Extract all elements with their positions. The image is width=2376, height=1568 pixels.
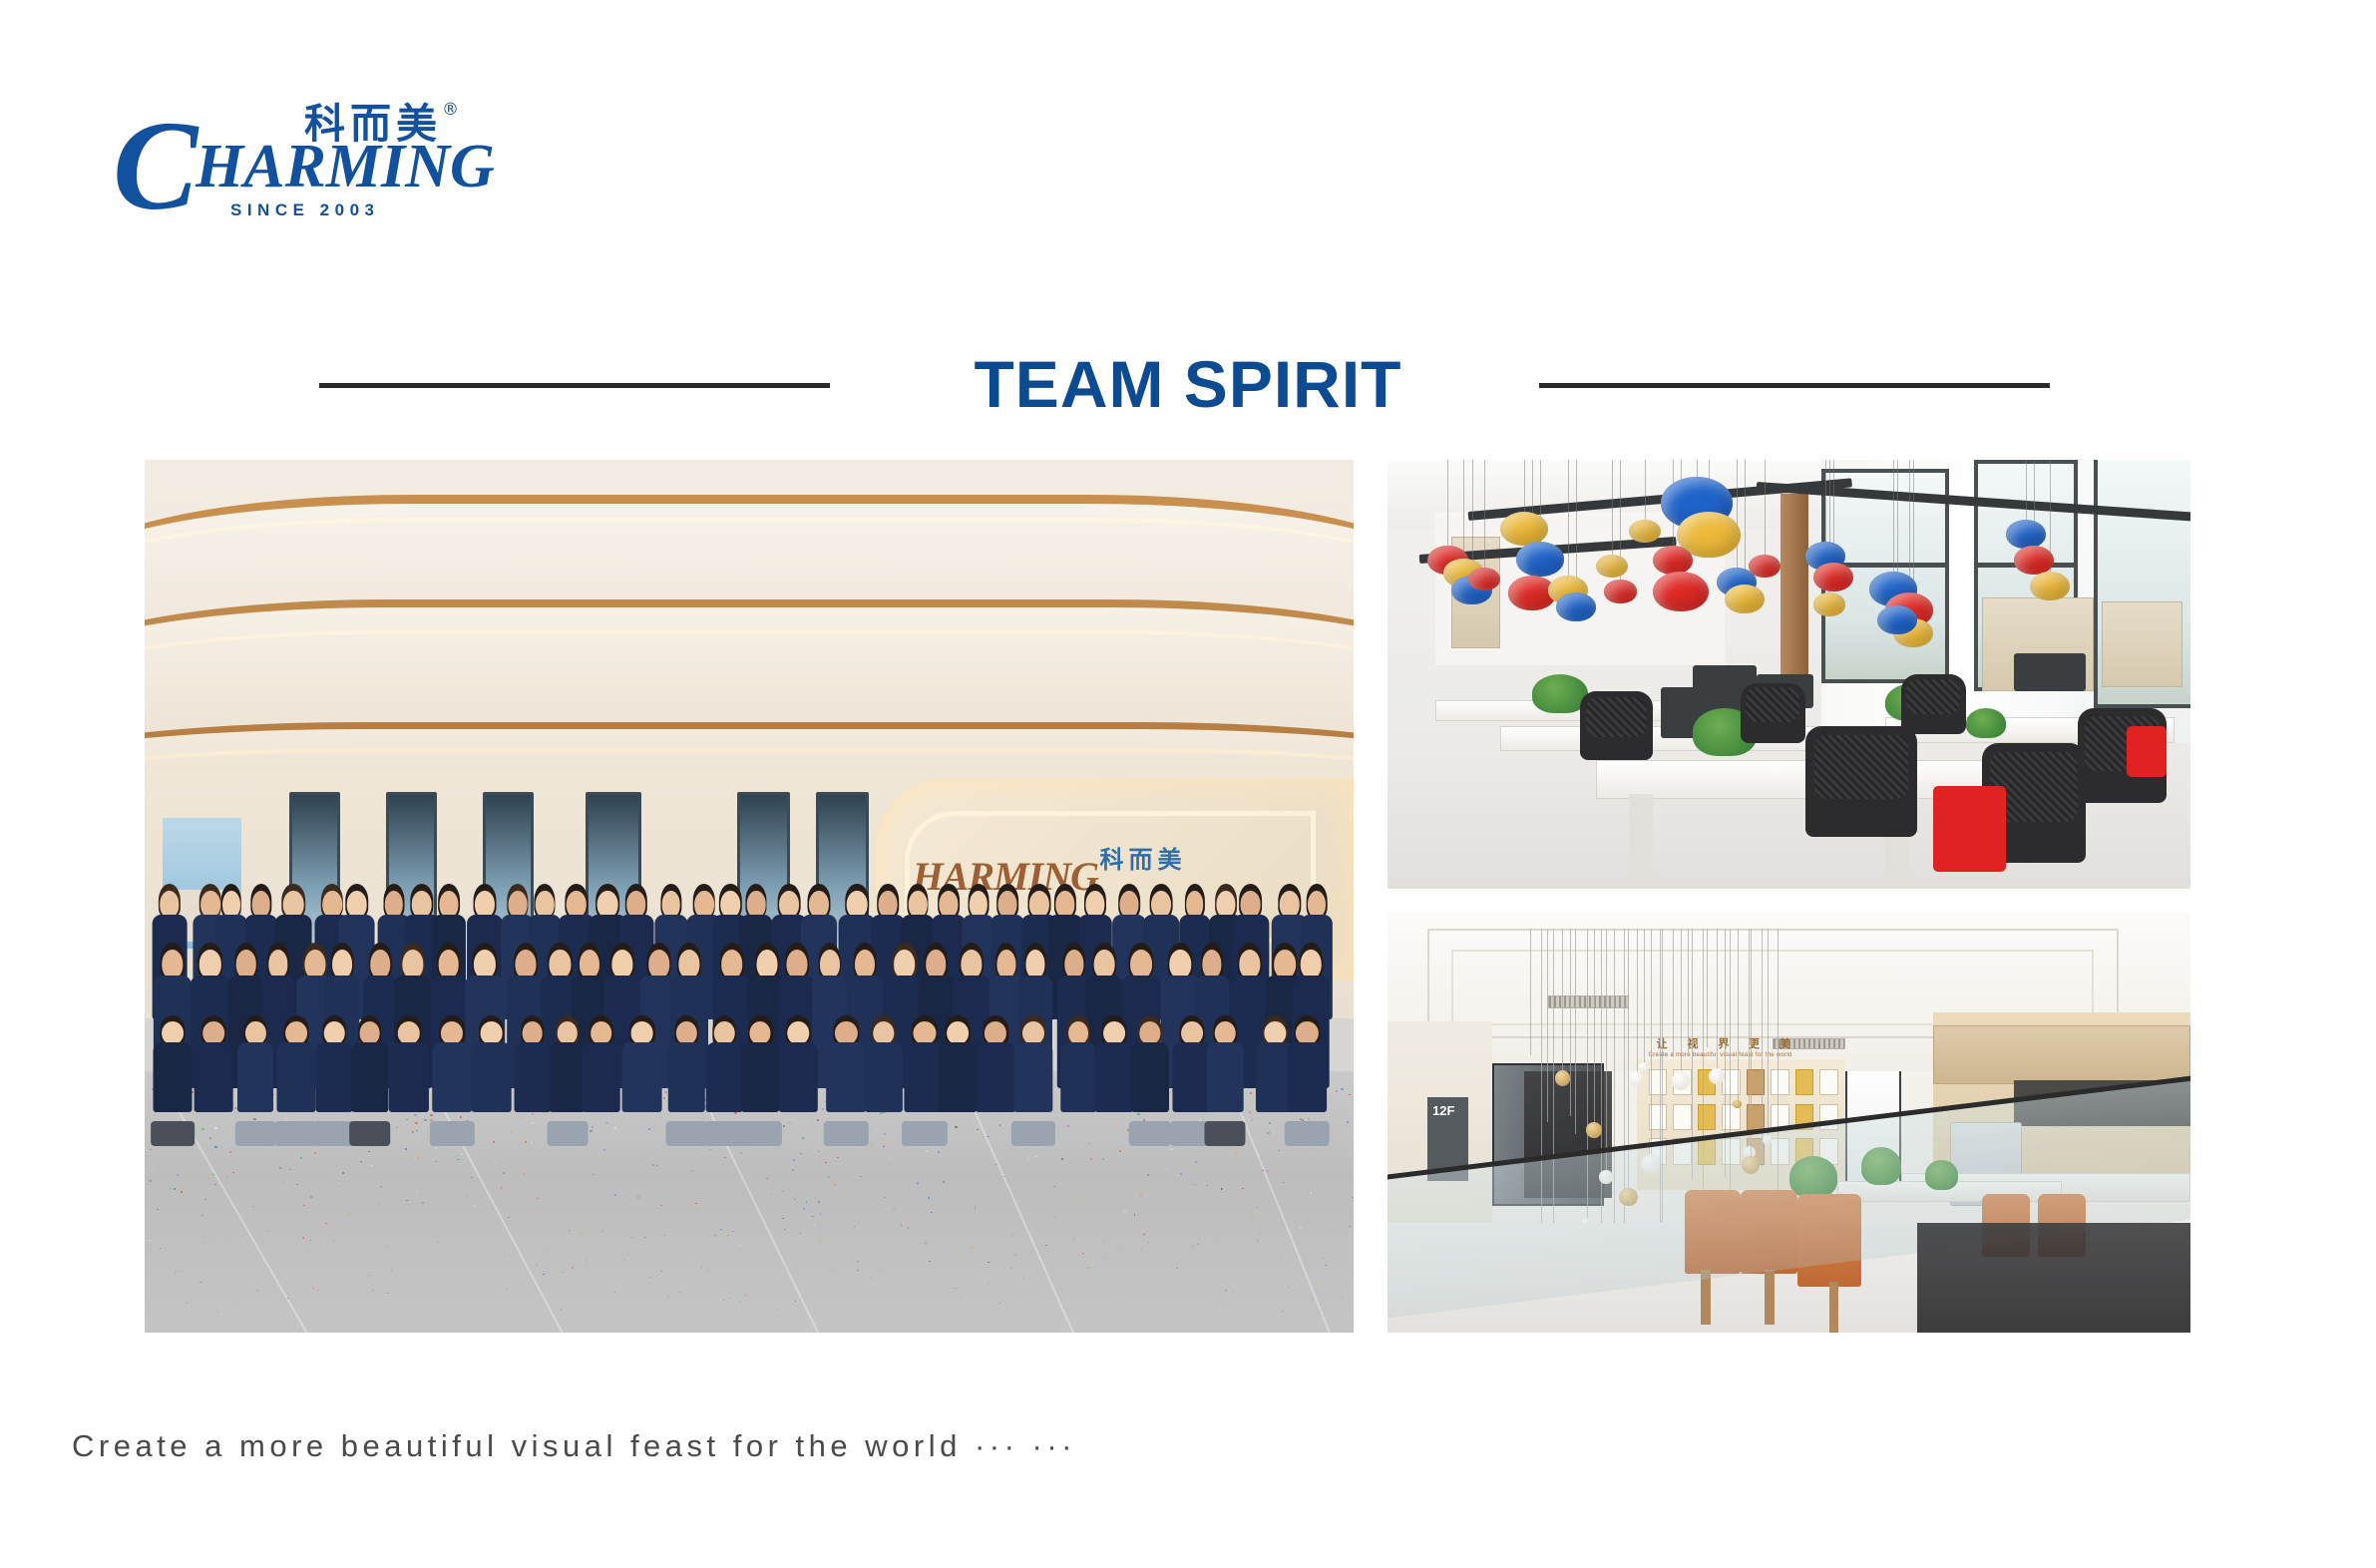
logo-chinese-name: 科而美 bbox=[304, 104, 442, 145]
employee-head bbox=[1064, 950, 1083, 979]
employee-trousers bbox=[1011, 1121, 1055, 1146]
employee-polo-shirt bbox=[316, 1042, 353, 1112]
confetti bbox=[784, 1229, 786, 1230]
certificate-frame bbox=[1795, 1069, 1814, 1095]
confetti bbox=[1134, 1214, 1136, 1215]
confetti bbox=[825, 1162, 827, 1164]
confetti bbox=[920, 1210, 922, 1211]
confetti bbox=[1031, 1301, 1032, 1302]
desk-plant-4 bbox=[1966, 708, 2006, 738]
confetti bbox=[308, 1251, 309, 1252]
employee-head bbox=[970, 891, 988, 918]
office-scene bbox=[1387, 460, 2190, 889]
confetti bbox=[652, 1164, 654, 1166]
employee-head bbox=[1068, 1021, 1088, 1045]
confetti bbox=[1218, 1238, 1219, 1239]
confetti bbox=[1300, 1227, 1302, 1228]
employee-polo-shirt bbox=[514, 1042, 551, 1112]
confetti bbox=[614, 1292, 615, 1293]
confetti bbox=[1325, 1265, 1326, 1266]
employee-head bbox=[346, 891, 367, 918]
confetti bbox=[871, 1144, 873, 1146]
employee-polo-shirt bbox=[389, 1042, 429, 1112]
employee-head bbox=[591, 1021, 612, 1045]
employee-head bbox=[1279, 891, 1299, 918]
confetti bbox=[378, 1203, 380, 1204]
confetti bbox=[174, 1188, 176, 1189]
confetti bbox=[795, 1301, 796, 1302]
confetti bbox=[883, 1146, 885, 1148]
red-balloon bbox=[1749, 555, 1781, 578]
confetti bbox=[727, 1235, 728, 1236]
confetti bbox=[832, 1181, 834, 1182]
lounge-scene: 12F 让 视 界 更 美 Create a more beautiful vi… bbox=[1387, 912, 2190, 1333]
certificate-frame bbox=[1771, 1069, 1789, 1095]
employee-head bbox=[1094, 950, 1115, 979]
confetti bbox=[1014, 1255, 1015, 1256]
confetti bbox=[187, 1303, 188, 1304]
employee-head bbox=[162, 1021, 184, 1045]
confetti bbox=[1187, 1290, 1188, 1291]
confetti bbox=[1193, 1246, 1194, 1247]
confetti bbox=[739, 1245, 740, 1246]
employee-head bbox=[522, 1021, 543, 1045]
employee-polo-shirt bbox=[1013, 1042, 1052, 1112]
employee-head bbox=[441, 1021, 463, 1045]
confetti bbox=[1341, 1088, 1344, 1090]
pendant-wire bbox=[1688, 929, 1689, 1054]
confetti bbox=[860, 1176, 862, 1177]
confetti bbox=[1257, 1235, 1258, 1236]
confetti bbox=[252, 1206, 254, 1207]
employee bbox=[1287, 1015, 1327, 1128]
confetti bbox=[279, 1167, 281, 1169]
confetti bbox=[1221, 1188, 1223, 1189]
confetti bbox=[371, 1165, 373, 1167]
confetti bbox=[1010, 1268, 1011, 1269]
employee-head bbox=[940, 891, 959, 918]
employee-head bbox=[597, 891, 618, 918]
employee bbox=[316, 1015, 353, 1128]
employee-polo-shirt bbox=[1094, 1042, 1133, 1112]
employee-head bbox=[1022, 1021, 1044, 1045]
confetti bbox=[181, 1191, 183, 1192]
employee bbox=[865, 1015, 903, 1128]
employee-head bbox=[756, 950, 777, 979]
confetti bbox=[1262, 1170, 1264, 1171]
confetti bbox=[805, 1196, 807, 1197]
confetti bbox=[631, 1237, 632, 1238]
confetti bbox=[1061, 1158, 1063, 1160]
yellow-balloon bbox=[1813, 592, 1845, 615]
confetti bbox=[586, 1263, 587, 1264]
confetti bbox=[870, 1277, 871, 1278]
dark-glass-panel bbox=[1917, 1223, 2190, 1333]
employee-head bbox=[202, 1021, 224, 1045]
employee-head bbox=[567, 891, 587, 918]
confetti bbox=[943, 1181, 945, 1182]
confetti bbox=[501, 1187, 503, 1188]
employee-polo-shirt bbox=[742, 1042, 780, 1112]
confetti bbox=[1140, 1195, 1142, 1196]
confetti bbox=[720, 1229, 722, 1230]
chair-leg-2 bbox=[1765, 1270, 1775, 1325]
office-chair-1 bbox=[1580, 691, 1652, 760]
employee-head bbox=[536, 891, 555, 918]
confetti bbox=[531, 1142, 533, 1144]
lounge-photo: 12F 让 视 界 更 美 Create a more beautiful vi… bbox=[1387, 912, 2190, 1333]
employee-head bbox=[750, 1021, 771, 1045]
confetti bbox=[837, 1157, 839, 1159]
confetti bbox=[977, 1129, 979, 1131]
balloon-string bbox=[1484, 460, 1485, 585]
confetti bbox=[302, 1237, 303, 1238]
confetti bbox=[1085, 1261, 1086, 1262]
red-stool-2 bbox=[2127, 726, 2167, 778]
employee-polo-shirt bbox=[976, 1042, 1015, 1112]
employee-trousers bbox=[235, 1121, 275, 1146]
confetti bbox=[832, 1270, 833, 1271]
yellow-balloon bbox=[2030, 572, 2070, 600]
confetti bbox=[1104, 1258, 1105, 1259]
confetti bbox=[1023, 1278, 1024, 1279]
confetti bbox=[1341, 1297, 1342, 1298]
employee-head bbox=[985, 1021, 1006, 1045]
employee-head bbox=[1203, 950, 1222, 979]
red-balloon bbox=[1813, 563, 1853, 591]
group-photo: HARMING 科而美 bbox=[145, 460, 1354, 1333]
employee-polo-shirt bbox=[1131, 1042, 1169, 1112]
confetti bbox=[1280, 1259, 1281, 1260]
confetti bbox=[380, 1186, 382, 1187]
confetti bbox=[587, 1259, 588, 1260]
confetti bbox=[704, 1288, 705, 1289]
confetti bbox=[1336, 1090, 1339, 1092]
employee bbox=[1207, 1015, 1244, 1128]
confetti bbox=[1063, 1308, 1064, 1309]
confetti bbox=[573, 1267, 574, 1268]
pendant-wire bbox=[1738, 929, 1739, 1100]
confetti bbox=[1206, 1185, 1208, 1186]
registered-trademark-icon: ® bbox=[442, 100, 459, 120]
confetti bbox=[708, 1270, 709, 1271]
confetti bbox=[360, 1161, 362, 1163]
employee bbox=[237, 1015, 273, 1128]
confetti bbox=[372, 1290, 373, 1291]
confetti bbox=[954, 1288, 955, 1289]
confetti bbox=[778, 1309, 779, 1310]
confetti bbox=[204, 1199, 206, 1200]
confetti bbox=[1003, 1176, 1005, 1177]
employee-trousers bbox=[349, 1121, 391, 1146]
pendant-gold-orb bbox=[1586, 1122, 1602, 1138]
employee-polo-shirt bbox=[550, 1042, 587, 1112]
confetti bbox=[569, 1230, 571, 1231]
confetti bbox=[920, 1243, 921, 1244]
red-balloon bbox=[1468, 568, 1500, 590]
wall-slogan-english: Create a more beautiful visual feast for… bbox=[1649, 1052, 1792, 1058]
confetti bbox=[1257, 1240, 1258, 1241]
pendant-wire bbox=[1575, 929, 1576, 1134]
confetti bbox=[313, 1288, 314, 1289]
employee-polo-shirt bbox=[154, 1042, 193, 1112]
confetti bbox=[495, 1162, 497, 1164]
confetti bbox=[208, 1242, 209, 1243]
confetti bbox=[336, 1292, 337, 1293]
employee-head bbox=[676, 1021, 696, 1045]
confetti bbox=[291, 1176, 293, 1177]
confetti bbox=[730, 1298, 731, 1299]
confetti bbox=[1347, 1121, 1349, 1123]
logo-wordmark: C HARMING 科而美 ® bbox=[113, 108, 542, 190]
confetti bbox=[1103, 1240, 1104, 1241]
confetti bbox=[854, 1226, 856, 1227]
confetti bbox=[232, 1172, 234, 1173]
pendant-wire bbox=[1707, 929, 1708, 1047]
confetti bbox=[857, 1270, 858, 1271]
confetti bbox=[673, 1309, 674, 1310]
confetti bbox=[1310, 1148, 1312, 1150]
confetti bbox=[1282, 1311, 1283, 1312]
employee bbox=[276, 1015, 315, 1128]
confetti bbox=[709, 1149, 711, 1151]
confetti bbox=[1312, 1299, 1313, 1300]
confetti bbox=[325, 1223, 327, 1224]
confetti bbox=[1249, 1111, 1251, 1113]
confetti bbox=[405, 1148, 407, 1150]
confetti bbox=[938, 1151, 940, 1153]
employee-head bbox=[1055, 891, 1074, 918]
confetti bbox=[300, 1157, 302, 1159]
employee bbox=[742, 1015, 780, 1128]
employee-trousers bbox=[1285, 1121, 1330, 1146]
confetti bbox=[1176, 1268, 1177, 1269]
confetti bbox=[1012, 1235, 1013, 1236]
confetti bbox=[929, 1261, 930, 1262]
confetti bbox=[746, 1295, 747, 1296]
employee bbox=[706, 1015, 743, 1128]
confetti bbox=[814, 1225, 816, 1226]
yellow-balloon bbox=[1596, 555, 1628, 578]
confetti bbox=[660, 1205, 662, 1206]
confetti bbox=[199, 1282, 200, 1283]
confetti bbox=[1242, 1188, 1244, 1189]
confetti bbox=[802, 1137, 804, 1139]
confetti bbox=[925, 1243, 926, 1244]
employee-head bbox=[222, 891, 240, 918]
confetti bbox=[661, 1271, 662, 1272]
confetti bbox=[525, 1141, 527, 1143]
confetti bbox=[962, 1300, 963, 1301]
employee-head bbox=[508, 891, 527, 918]
confetti bbox=[325, 1179, 327, 1180]
employee bbox=[550, 1015, 587, 1128]
confetti bbox=[150, 1149, 152, 1151]
confetti bbox=[287, 1298, 288, 1299]
blue-balloon bbox=[1556, 592, 1596, 621]
employee-head bbox=[412, 891, 433, 918]
confetti bbox=[209, 1137, 211, 1139]
confetti bbox=[989, 1283, 990, 1284]
employee-head bbox=[747, 891, 766, 918]
confetti bbox=[1035, 1156, 1037, 1158]
employee-polo-shirt bbox=[582, 1042, 620, 1112]
pendant-wire bbox=[1562, 929, 1563, 1070]
confetti bbox=[537, 1198, 539, 1199]
pendant-wire bbox=[1768, 929, 1769, 1135]
confetti bbox=[417, 1157, 419, 1159]
confetti bbox=[1259, 1232, 1261, 1233]
employee bbox=[621, 1015, 662, 1128]
confetti bbox=[310, 1240, 311, 1241]
blue-balloon bbox=[1877, 605, 1917, 634]
confetti bbox=[1321, 1284, 1322, 1285]
confetti bbox=[1166, 1168, 1168, 1169]
confetti bbox=[235, 1302, 236, 1303]
confetti bbox=[1090, 1158, 1092, 1160]
confetti bbox=[420, 1194, 422, 1195]
pendant-wire bbox=[1717, 929, 1718, 1068]
confetti bbox=[228, 1242, 229, 1243]
certificate-frame bbox=[1673, 1104, 1692, 1130]
confetti bbox=[314, 1152, 316, 1154]
confetti bbox=[543, 1274, 544, 1275]
charming-logo: C HARMING 科而美 ® SINCE 2003 bbox=[113, 108, 542, 222]
employee-head bbox=[927, 950, 947, 979]
confetti bbox=[884, 1197, 886, 1198]
employee-head bbox=[678, 950, 699, 979]
employee-head bbox=[855, 950, 875, 979]
confetti bbox=[391, 1270, 392, 1271]
red-balloon bbox=[1653, 546, 1693, 575]
cabinet-right bbox=[2102, 601, 2182, 687]
upper-cabinets bbox=[1933, 1025, 2190, 1084]
pendant-glass-orb bbox=[1629, 1071, 1644, 1086]
employee-head bbox=[1139, 1021, 1160, 1045]
confetti bbox=[201, 1215, 203, 1216]
confetti bbox=[771, 1194, 773, 1195]
confetti bbox=[732, 1231, 734, 1232]
confetti bbox=[893, 1209, 895, 1210]
confetti bbox=[387, 1293, 388, 1294]
confetti bbox=[1283, 1182, 1285, 1183]
title-rule-right bbox=[1539, 383, 2050, 388]
confetti bbox=[1330, 1230, 1332, 1231]
confetti bbox=[637, 1196, 639, 1197]
employee bbox=[514, 1015, 551, 1128]
confetti bbox=[1349, 1245, 1350, 1246]
confetti bbox=[1121, 1307, 1122, 1308]
confetti bbox=[603, 1149, 605, 1151]
employee bbox=[389, 1015, 429, 1128]
employee bbox=[668, 1015, 704, 1128]
confetti bbox=[435, 1161, 437, 1163]
confetti bbox=[679, 1292, 680, 1293]
office-curtain bbox=[1781, 494, 1807, 687]
employee-head bbox=[580, 950, 599, 979]
confetti bbox=[1123, 1282, 1124, 1283]
confetti bbox=[1197, 1244, 1198, 1245]
employee-head bbox=[438, 950, 459, 979]
confetti bbox=[792, 1169, 794, 1170]
employee-head bbox=[1308, 891, 1326, 918]
employee-head bbox=[873, 1021, 894, 1045]
employee-head bbox=[397, 1021, 419, 1045]
wall-sign-chinese: 科而美 bbox=[1099, 840, 1186, 875]
confetti bbox=[885, 1269, 886, 1270]
confetti bbox=[1195, 1161, 1197, 1163]
employee-head bbox=[962, 950, 983, 979]
yellow-balloon bbox=[1725, 585, 1765, 613]
pendant-wire bbox=[1594, 929, 1595, 1122]
confetti bbox=[695, 1203, 697, 1204]
employee-polo-shirt bbox=[779, 1042, 817, 1112]
confetti bbox=[177, 1174, 179, 1175]
employee-polo-shirt bbox=[621, 1042, 662, 1112]
confetti bbox=[1194, 1184, 1196, 1185]
confetti bbox=[742, 1263, 743, 1264]
confetti bbox=[282, 1224, 284, 1225]
employee-head bbox=[235, 950, 256, 979]
confetti bbox=[765, 1231, 767, 1232]
confetti bbox=[1310, 1192, 1312, 1193]
confetti bbox=[416, 1130, 418, 1132]
confetti bbox=[1232, 1291, 1233, 1292]
employee-trousers bbox=[274, 1121, 318, 1146]
slide-page: C HARMING 科而美 ® SINCE 2003 TEAM SPIRIT bbox=[0, 0, 2376, 1568]
confetti bbox=[590, 1130, 592, 1132]
confetti bbox=[1267, 1170, 1269, 1171]
employee-polo-shirt bbox=[1287, 1042, 1327, 1112]
confetti bbox=[406, 1200, 408, 1201]
confetti bbox=[310, 1196, 312, 1197]
confetti bbox=[1257, 1207, 1259, 1208]
office-chair-2 bbox=[1741, 683, 1804, 743]
employee-head bbox=[714, 1021, 735, 1045]
employee bbox=[154, 1015, 193, 1128]
employee-polo-shirt bbox=[351, 1042, 388, 1112]
employee-head bbox=[439, 891, 458, 918]
confetti bbox=[1318, 1312, 1319, 1313]
confetti bbox=[1006, 1304, 1007, 1305]
certificate-frame bbox=[1698, 1104, 1717, 1130]
confetti bbox=[714, 1235, 715, 1236]
employee-head bbox=[611, 950, 632, 979]
confetti bbox=[217, 1311, 218, 1312]
confetti bbox=[667, 1296, 668, 1297]
blue-balloon bbox=[1516, 542, 1564, 577]
confetti bbox=[1349, 1094, 1352, 1096]
employee-head bbox=[162, 950, 183, 979]
confetti bbox=[818, 1201, 820, 1202]
employee-polo-shirt bbox=[668, 1042, 704, 1112]
employee-polo-shirt bbox=[706, 1042, 743, 1112]
confetti bbox=[196, 1239, 197, 1240]
confetti bbox=[1027, 1158, 1029, 1160]
confetti bbox=[551, 1289, 552, 1290]
employee-head bbox=[1151, 891, 1171, 918]
confetti bbox=[170, 1188, 172, 1189]
confetti bbox=[511, 1131, 513, 1133]
confetti bbox=[803, 1208, 805, 1209]
confetti bbox=[1251, 1120, 1253, 1122]
confetti bbox=[214, 1184, 216, 1185]
confetti bbox=[624, 1260, 625, 1261]
employee-head bbox=[385, 891, 403, 918]
confetti bbox=[724, 1157, 726, 1159]
logo-letter-c: C bbox=[113, 102, 192, 229]
monitor-3 bbox=[2014, 653, 2086, 692]
